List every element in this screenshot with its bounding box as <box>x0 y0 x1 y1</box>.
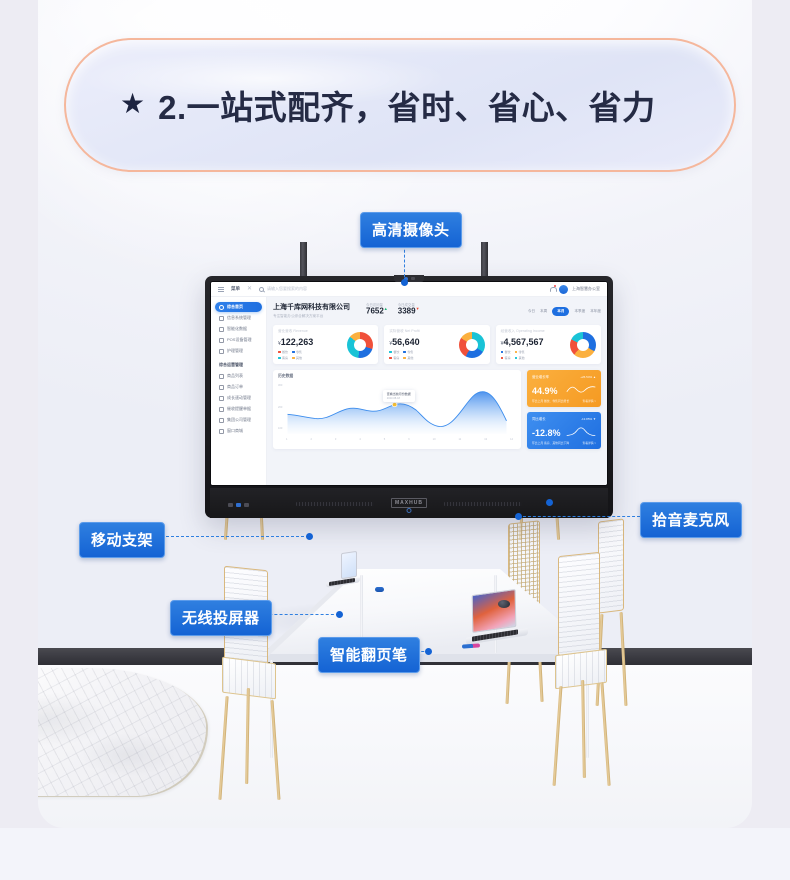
stat-card-foot-left: 环比上月 客房、其他同比下降 <box>532 441 569 445</box>
notification-dot <box>554 285 556 287</box>
anchor-dot-mic-array <box>515 513 522 520</box>
x-tick: 11 <box>459 438 462 441</box>
range-tab-year[interactable]: 本年度 <box>590 309 601 314</box>
file-icon <box>219 316 224 321</box>
brand-logo: MAXHUB <box>391 498 427 508</box>
bell-icon[interactable] <box>550 286 555 292</box>
y-tick: 300 <box>278 384 282 387</box>
kpi-card-legend: 餐饮 零售 客房 其他 <box>501 350 535 360</box>
sidebar-item-care[interactable]: 护理管理 <box>215 346 262 356</box>
dashboard-sidebar: 综合首页 信息系统管理 智能化数据 <box>211 297 267 485</box>
donut-chart-net <box>459 332 485 358</box>
stat-card-decline[interactable]: 同比增长 -13.85% ▼ -12.8% <box>527 412 601 449</box>
kpi-card-operating[interactable]: 经营收入 Operating Income ¥4,567,567 餐饮 零售 客… <box>496 325 601 364</box>
history-chart-card: 历史数据 300 200 100 <box>273 370 521 449</box>
stat-card-label: 同比增长 <box>532 416 546 421</box>
sidebar-item-group-company[interactable]: 集团公司管理 <box>215 415 262 425</box>
chart-title: 历史数据 <box>278 374 516 379</box>
area-chart: 300 200 100 <box>278 382 516 438</box>
list-icon <box>219 374 224 379</box>
kpi-card-revenue[interactable]: 营业营收 Revenue ¥122,263 餐饮 零售 客房 其他 <box>273 325 378 364</box>
bottom-strip <box>0 828 790 880</box>
legend-item: 客房 <box>389 356 399 360</box>
anchor-dot-hd-camera <box>401 279 408 286</box>
x-tick: 13 <box>484 438 487 441</box>
header-banner: ★ 2.一站式配齐，省时、省心、省力 <box>64 38 736 172</box>
kpi-card-net[interactable]: 实际营收 Net Profit ¥56,640 餐饮 零售 客房 其他 <box>384 325 489 364</box>
chart-tooltip: 查看当前月份数据 2023-08-18 <box>383 390 415 402</box>
inline-stat-value: 3389▼ <box>398 307 420 316</box>
interactive-display: 菜单 ✕ 请输入您要搜索的内容 上海智慧办公室 <box>205 276 613 518</box>
sidebar-item-label: 催收提醒单据 <box>227 406 251 412</box>
group-icon <box>219 418 224 423</box>
stat-card-row: 44.9% <box>532 383 596 396</box>
anchor-dot-wireless-caster <box>336 611 343 618</box>
sidebar-item-orders[interactable]: 商品订单 <box>215 382 262 392</box>
inline-stats: 今日访问量 7652▲ 今日成交量 3389▼ <box>366 302 420 316</box>
inline-stat-value: 7652▲ <box>366 307 388 316</box>
sidebar-item-info-system[interactable]: 信息系统管理 <box>215 313 262 323</box>
leader-mic-array <box>518 516 640 517</box>
stat-card-head: 营业增长率 +26.54% ▲ <box>532 374 596 379</box>
range-tabs: 今日 本周 本月 本季度 本年度 <box>528 302 601 316</box>
store-icon <box>219 429 224 434</box>
stat-card-foot: 环比上月 客房、其他同比下降 查看详情 > <box>532 441 596 445</box>
trend-down-icon: ▼ <box>416 306 420 311</box>
sidebar-item-label: 综合首页 <box>227 304 243 310</box>
x-tick: 10 <box>433 438 436 441</box>
shield-icon <box>219 349 224 354</box>
anchor-dot-smart-pointer <box>425 648 432 655</box>
kpi-card-title: 实际营收 Net Profit <box>389 329 423 334</box>
x-tick: 1 <box>286 438 287 441</box>
x-tick: 14 <box>510 438 513 441</box>
growth-icon <box>219 396 224 401</box>
sidebar-item-label: 信息系统管理 <box>227 315 251 321</box>
leader-mobile-stand <box>161 536 309 537</box>
kpi-card-legend: 餐饮 零售 客房 其他 <box>389 350 423 360</box>
stat-card-label: 营业增长率 <box>532 374 549 379</box>
speaker-grille-right <box>444 502 522 506</box>
device-icon <box>219 338 224 343</box>
kpi-card-left: 经营收入 Operating Income ¥4,567,567 餐饮 零售 客… <box>501 329 545 360</box>
close-icon[interactable]: ✕ <box>247 286 252 292</box>
conference-speaker-puck <box>498 600 510 608</box>
sidebar-item-store[interactable]: 窗口商城 <box>215 426 262 436</box>
callout-mic-array[interactable]: 拾音麦克风 <box>640 502 742 538</box>
range-tab-quarter[interactable]: 本季度 <box>574 309 585 314</box>
sparkline-growth <box>566 383 596 396</box>
x-tick: 2 <box>310 438 311 441</box>
mic-array-indicator <box>546 499 553 506</box>
legend-item: 其他 <box>292 356 302 360</box>
chart-icon <box>219 327 224 332</box>
star-icon: ★ <box>120 90 145 118</box>
anchor-dot-mobile-stand <box>306 533 313 540</box>
sidebar-item-smart-data[interactable]: 智能化数据 <box>215 324 262 334</box>
callout-hd-camera[interactable]: 高清摄像头 <box>360 212 462 248</box>
kpi-cards: 营业营收 Revenue ¥122,263 餐饮 零售 客房 其他 <box>273 325 601 364</box>
sidebar-item-pos-device[interactable]: POS设备管理 <box>215 335 262 345</box>
lower-row: 历史数据 300 200 100 <box>273 370 601 449</box>
org-header-row: 上海千库网科技有限公司 专注智能办公综合解决方案平台 今日访问量 7652▲ <box>273 302 601 319</box>
camera-ir-sensor <box>411 277 415 280</box>
x-tick: 4 <box>359 438 360 441</box>
bell-icon <box>219 407 224 412</box>
user-name: 上海智慧办公室 <box>572 286 600 292</box>
callout-wireless-caster[interactable]: 无线投屏器 <box>170 600 272 636</box>
y-tick: 100 <box>278 427 282 430</box>
search-placeholder: 请输入您要搜索的内容 <box>267 286 307 292</box>
kpi-card-value: ¥4,567,567 <box>501 337 545 347</box>
kpi-card-left: 营业营收 Revenue ¥122,263 餐饮 零售 客房 其他 <box>278 329 313 360</box>
x-axis-ticks: 1 2 3 4 5 6 10 11 13 <box>278 438 516 441</box>
port-usb-icon <box>228 503 233 507</box>
org-name: 上海千库网科技有限公司 <box>273 302 350 312</box>
sidebar-group-label: 综合运营管理 <box>215 362 262 368</box>
search-icon <box>259 287 264 292</box>
trend-down-icon: ▼ <box>593 417 596 421</box>
sidebar-item-label: 成长速动管理 <box>227 395 251 401</box>
display-screen: 菜单 ✕ 请输入您要搜索的内容 上海智慧办公室 <box>210 281 608 486</box>
stat-card-value: -12.8% <box>532 429 561 438</box>
kpi-card-value: ¥122,263 <box>278 337 313 347</box>
org-block: 上海千库网科技有限公司 专注智能办公综合解决方案平台 <box>273 302 350 319</box>
side-stat-cards: 营业增长率 +26.54% ▲ 44.9% <box>527 370 601 449</box>
dashboard-main: 上海千库网科技有限公司 专注智能办公综合解决方案平台 今日访问量 7652▲ <box>267 297 607 485</box>
wireless-caster-device <box>375 587 384 592</box>
sidebar-item-product-list[interactable]: 商品列表 <box>215 371 262 381</box>
kpi-card-legend: 餐饮 零售 客房 其他 <box>278 350 312 360</box>
topbar-right: 上海智慧办公室 <box>550 285 600 294</box>
range-tab-month[interactable]: 本月 <box>552 307 569 316</box>
stat-card-row: -12.8% <box>532 425 596 438</box>
legend-item: 其他 <box>515 356 525 360</box>
legend-item: 零售 <box>515 350 525 354</box>
page-title: 2.一站式配齐，省时、省心、省力 <box>158 81 656 129</box>
kpi-card-title: 经营收入 Operating Income <box>501 329 545 334</box>
power-indicator-icon <box>407 508 412 513</box>
port-hdmi-icon <box>244 503 249 507</box>
stat-card-head: 同比增长 -13.85% ▼ <box>532 416 596 421</box>
inline-stat-orders: 今日成交量 3389▼ <box>398 302 420 316</box>
hamburger-icon[interactable] <box>218 287 224 292</box>
sidebar-item-label: 商品订单 <box>227 384 243 390</box>
stat-card-delta: +26.54% ▲ <box>580 375 596 379</box>
legend-item: 客房 <box>501 356 511 360</box>
kpi-card-left: 实际营收 Net Profit ¥56,640 餐饮 零售 客房 其他 <box>389 329 423 360</box>
menu-label[interactable]: 菜单 <box>231 286 240 292</box>
stat-card-foot-left: 环比上月 餐饮、零售同比增长 <box>532 399 569 403</box>
legend-item: 零售 <box>403 350 413 354</box>
legend-item: 其他 <box>403 356 413 360</box>
stat-card-foot-right[interactable]: 查看详情 > <box>582 441 596 445</box>
stat-card-growth[interactable]: 营业增长率 +26.54% ▲ 44.9% <box>527 370 601 407</box>
y-axis-ticks: 300 200 100 <box>278 384 282 430</box>
stat-card-delta: -13.85% ▼ <box>581 417 596 421</box>
sidebar-item-home[interactable]: 综合首页 <box>215 302 262 312</box>
x-tick: 3 <box>335 438 336 441</box>
hd-camera-module <box>394 275 424 282</box>
donut-chart-revenue <box>347 332 373 358</box>
display-bottom-bezel: MAXHUB <box>210 488 608 518</box>
trend-up-icon: ▲ <box>384 306 388 311</box>
range-tab-week[interactable]: 本周 <box>540 309 547 314</box>
kpi-card-value: ¥56,640 <box>389 337 423 347</box>
legend-item: 客房 <box>278 356 288 360</box>
donut-chart-operating <box>570 332 596 358</box>
range-tab-today[interactable]: 今日 <box>528 309 535 314</box>
org-subtitle: 专注智能办公综合解决方案平台 <box>273 314 350 319</box>
callout-mobile-stand[interactable]: 移动支架 <box>79 522 165 558</box>
x-tick: 5 <box>384 438 385 441</box>
sidebar-item-label: 商品列表 <box>227 373 243 379</box>
callout-smart-pointer[interactable]: 智能翻页笔 <box>318 637 420 673</box>
legend-item: 餐饮 <box>278 350 288 354</box>
sidebar-item-label: 窗口商城 <box>227 428 243 434</box>
home-icon <box>219 305 224 310</box>
bezel-ports <box>228 503 249 507</box>
sparkline-decline <box>566 425 596 438</box>
y-tick: 200 <box>278 406 282 409</box>
stat-card-value: 44.9% <box>532 387 558 396</box>
kpi-card-title: 营业营收 Revenue <box>278 329 313 334</box>
banner-inner: ★ 2.一站式配齐，省时、省心、省力 <box>66 81 656 129</box>
stat-card-foot: 环比上月 餐饮、零售同比增长 查看详情 > <box>532 399 596 403</box>
dashboard-body: 综合首页 信息系统管理 智能化数据 <box>211 297 607 485</box>
legend-item: 零售 <box>292 350 302 354</box>
port-usb3-icon <box>236 503 241 507</box>
sidebar-item-label: POS设备管理 <box>227 337 251 343</box>
sidebar-item-label: 护理管理 <box>227 348 243 354</box>
inline-stat-visits: 今日访问量 7652▲ <box>366 302 388 316</box>
sidebar-item-label: 集团公司管理 <box>227 417 251 423</box>
stat-card-foot-right[interactable]: 查看详情 > <box>582 399 596 403</box>
sidebar-item-label: 智能化数据 <box>227 326 247 332</box>
sidebar-item-growth[interactable]: 成长速动管理 <box>215 393 262 403</box>
legend-item: 餐饮 <box>389 350 399 354</box>
legend-item: 餐饮 <box>501 350 511 354</box>
order-icon <box>219 385 224 390</box>
search-box[interactable]: 请输入您要搜索的内容 <box>259 286 307 292</box>
x-tick: 6 <box>408 438 409 441</box>
speaker-grille-left <box>296 502 374 506</box>
dashboard-app: 菜单 ✕ 请输入您要搜索的内容 上海智慧办公室 <box>211 282 607 485</box>
page-root: 菜单 ✕ 请输入您要搜索的内容 上海智慧办公室 <box>0 0 790 880</box>
tooltip-title: 查看当前月份数据 <box>387 392 411 396</box>
trend-up-icon: ▲ <box>593 375 596 379</box>
tooltip-subtitle: 2023-08-18 <box>387 397 411 400</box>
avatar[interactable] <box>559 285 568 294</box>
dashboard-topbar: 菜单 ✕ 请输入您要搜索的内容 上海智慧办公室 <box>211 282 607 297</box>
sidebar-item-reminders[interactable]: 催收提醒单据 <box>215 404 262 414</box>
